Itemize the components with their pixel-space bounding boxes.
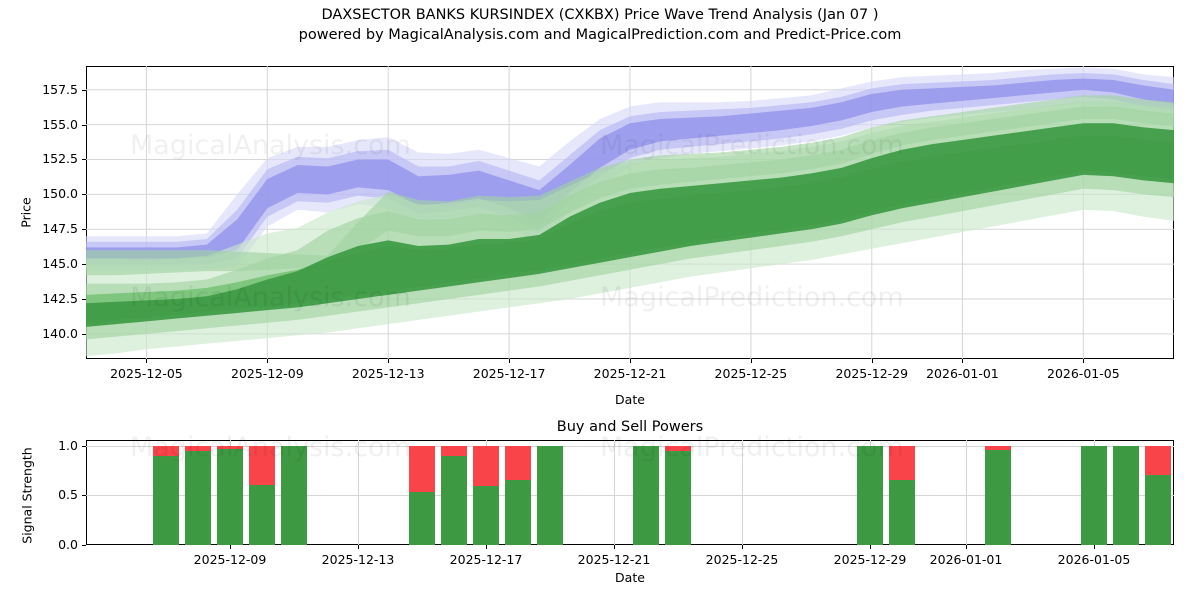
buy-power-segment	[473, 486, 499, 545]
price-y-tick-mark	[82, 125, 86, 126]
signal-y-tick-mark	[82, 446, 86, 447]
price-x-tick-mark	[388, 359, 389, 363]
signal-bar[interactable]	[857, 446, 883, 545]
buy-power-segment	[537, 446, 563, 545]
signal-bar[interactable]	[1145, 446, 1171, 545]
signal-y-tick-mark	[82, 495, 86, 496]
gridline-v	[614, 440, 615, 545]
buy-power-segment	[409, 492, 435, 545]
price-y-tick-label: 155.0	[20, 117, 78, 132]
sell-power-segment	[249, 446, 275, 485]
sell-power-segment	[889, 446, 915, 480]
sell-power-segment	[217, 446, 243, 449]
price-y-tick-mark	[82, 264, 86, 265]
price-wave-plot-area	[86, 66, 1174, 359]
sell-power-segment	[409, 446, 435, 492]
signal-bar[interactable]	[249, 446, 275, 545]
signal-x-tick-label: 2025-12-09	[170, 552, 290, 567]
buy-power-segment	[985, 450, 1011, 545]
price-y-tick-label: 140.0	[20, 326, 78, 341]
signal-bar[interactable]	[1081, 446, 1107, 545]
price-y-tick-mark	[82, 229, 86, 230]
signal-bar[interactable]	[633, 446, 659, 545]
price-y-tick-mark	[82, 159, 86, 160]
sell-power-segment	[505, 446, 531, 480]
price-x-tick-label: 2025-12-25	[691, 366, 811, 381]
price-x-tick-label: 2026-01-01	[902, 366, 1022, 381]
price-x-tick-label: 2025-12-09	[207, 366, 327, 381]
signal-x-tick-label: 2026-01-05	[1034, 552, 1154, 567]
gridline-v	[358, 440, 359, 545]
price-x-tick-mark	[146, 359, 147, 363]
buy-power-segment	[857, 446, 883, 545]
signal-x-tick-mark	[486, 545, 487, 549]
sell-power-segment	[473, 446, 499, 486]
price-y-tick-label: 145.0	[20, 256, 78, 271]
signal-x-tick-label: 2025-12-21	[554, 552, 674, 567]
signal-x-tick-label: 2025-12-13	[298, 552, 418, 567]
buy-power-segment	[1113, 446, 1139, 545]
sell-power-segment	[985, 446, 1011, 450]
sell-power-segment	[1145, 446, 1171, 475]
price-x-tick-mark	[872, 359, 873, 363]
price-x-tick-label: 2025-12-17	[449, 366, 569, 381]
price-x-tick-mark	[630, 359, 631, 363]
buy-sell-plot-area	[86, 440, 1174, 545]
price-x-tick-mark	[1083, 359, 1084, 363]
price-y-tick-label: 152.5	[20, 151, 78, 166]
signal-bar[interactable]	[505, 446, 531, 545]
price-x-tick-mark	[509, 359, 510, 363]
signal-x-tick-mark	[870, 545, 871, 549]
price-x-tick-label: 2025-12-13	[328, 366, 448, 381]
signal-bar[interactable]	[409, 446, 435, 545]
buy-sell-subplot-title: Buy and Sell Powers	[86, 419, 1174, 435]
price-y-tick-mark	[82, 90, 86, 91]
buy-power-segment	[505, 480, 531, 545]
signal-bar[interactable]	[153, 446, 179, 545]
price-y-tick-mark	[82, 194, 86, 195]
price-x-tick-label: 2025-12-05	[86, 366, 206, 381]
signal-bar[interactable]	[889, 446, 915, 545]
signal-bar[interactable]	[185, 446, 211, 545]
signal-bar[interactable]	[985, 446, 1011, 545]
chart-title-block: DAXSECTOR BANKS KURSINDEX (CXKBX) Price …	[0, 5, 1200, 45]
price-x-tick-mark	[962, 359, 963, 363]
price-y-tick-mark	[82, 299, 86, 300]
price-date-axis-title: Date	[86, 392, 1174, 407]
price-y-tick-label: 142.5	[20, 291, 78, 306]
signal-x-tick-mark	[1094, 545, 1095, 549]
signal-x-tick-label: 2026-01-01	[906, 552, 1026, 567]
signal-bar[interactable]	[441, 446, 467, 545]
sell-power-segment	[441, 446, 467, 456]
price-y-tick-mark	[82, 334, 86, 335]
signal-x-tick-mark	[966, 545, 967, 549]
buy-power-segment	[153, 456, 179, 545]
signal-bar[interactable]	[665, 446, 691, 545]
signal-x-tick-label: 2025-12-17	[426, 552, 546, 567]
sell-power-segment	[153, 446, 179, 456]
signal-x-tick-label: 2025-12-25	[682, 552, 802, 567]
signal-x-tick-mark	[742, 545, 743, 549]
price-x-tick-label: 2025-12-21	[570, 366, 690, 381]
sell-power-segment	[185, 446, 211, 451]
buy-power-segment	[441, 456, 467, 545]
page-subtitle: powered by MagicalAnalysis.com and Magic…	[0, 25, 1200, 45]
price-x-tick-mark	[751, 359, 752, 363]
price-wave-bands	[86, 66, 1174, 359]
signal-bar[interactable]	[473, 446, 499, 545]
signal-y-tick-mark	[82, 545, 86, 546]
buy-power-segment	[1081, 446, 1107, 545]
price-x-tick-mark	[267, 359, 268, 363]
signal-x-tick-mark	[358, 545, 359, 549]
page-title: DAXSECTOR BANKS KURSINDEX (CXKBX) Price …	[0, 5, 1200, 25]
buy-power-segment	[281, 446, 307, 545]
signal-bar[interactable]	[281, 446, 307, 545]
signal-bar[interactable]	[217, 446, 243, 545]
price-x-tick-label: 2026-01-05	[1023, 366, 1143, 381]
signal-date-axis-title: Date	[86, 570, 1174, 585]
signal-axis-title: Signal Strength	[20, 441, 35, 551]
signal-x-tick-mark	[230, 545, 231, 549]
signal-bar[interactable]	[1113, 446, 1139, 545]
buy-power-segment	[633, 446, 659, 545]
price-axis-title: Price	[19, 183, 34, 243]
buy-power-segment	[217, 449, 243, 545]
buy-power-segment	[1145, 475, 1171, 545]
buy-power-segment	[249, 485, 275, 545]
signal-x-tick-mark	[614, 545, 615, 549]
gridline-v	[966, 440, 967, 545]
buy-power-segment	[889, 480, 915, 545]
buy-power-segment	[185, 451, 211, 545]
sell-power-segment	[665, 446, 691, 451]
price-y-tick-label: 157.5	[20, 82, 78, 97]
buy-power-segment	[665, 451, 691, 545]
gridline-v	[742, 440, 743, 545]
signal-bar[interactable]	[537, 446, 563, 545]
